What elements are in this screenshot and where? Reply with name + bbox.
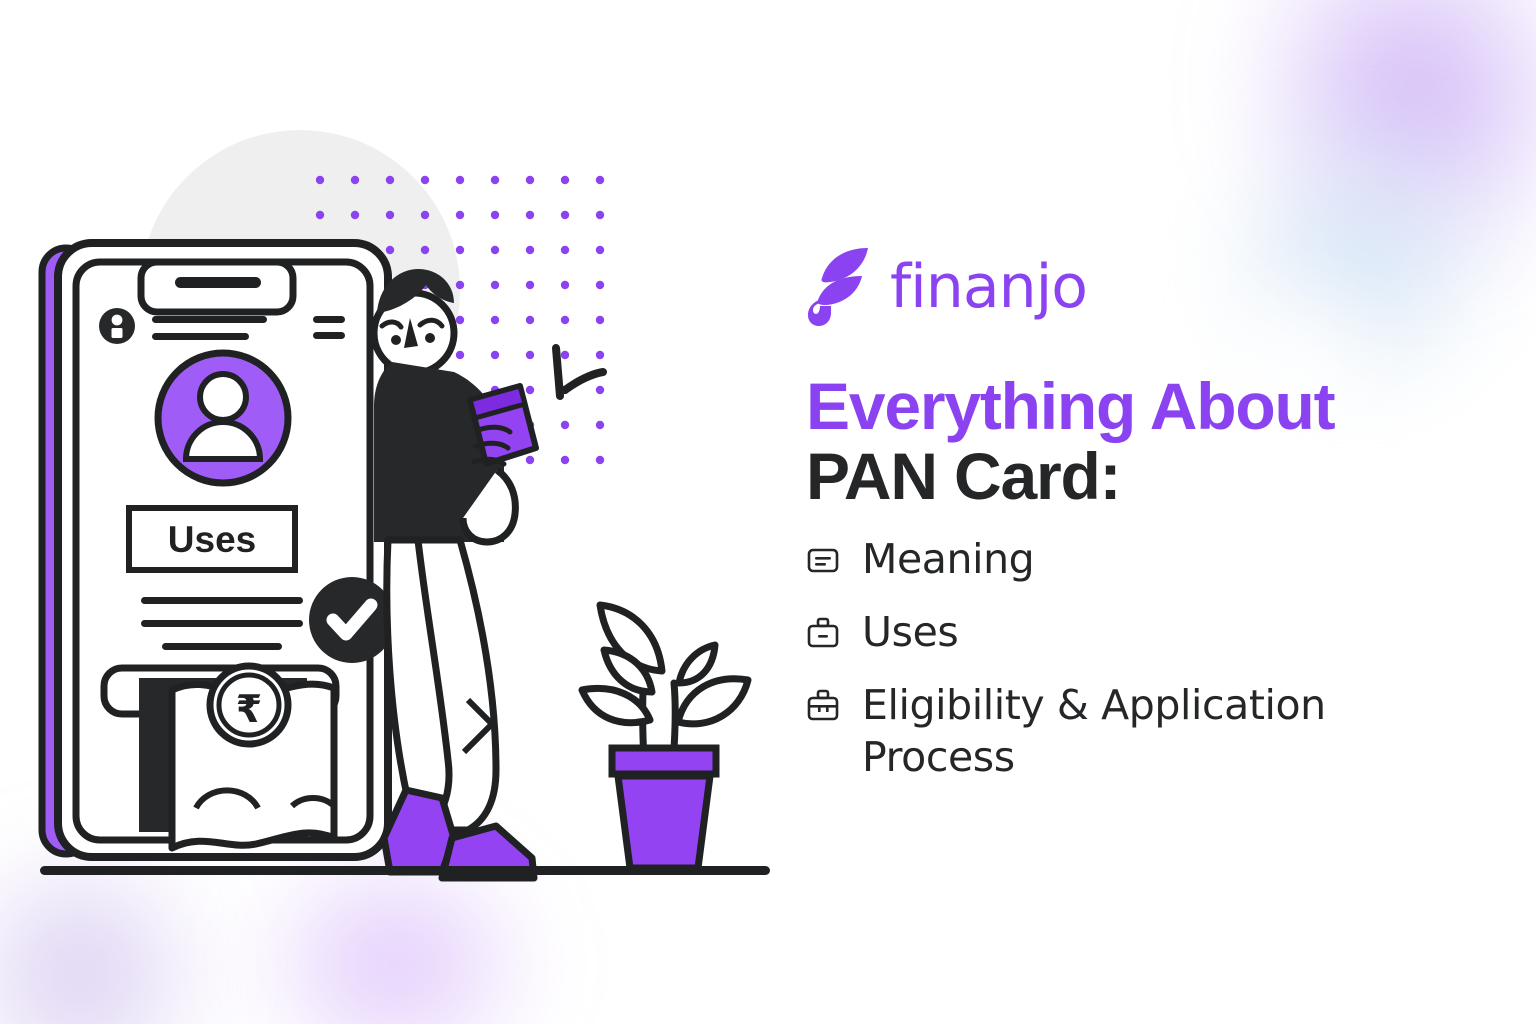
content-panel: finanjo Everything About PAN Card: Meani… (806, 248, 1466, 805)
hero-illustration: Uses (0, 0, 790, 900)
banknote-with-rupee: ₹ (172, 666, 334, 848)
headline-line-1: Everything About (806, 372, 1466, 442)
potted-plant-icon (582, 605, 748, 868)
check-circle-icon (309, 577, 395, 663)
list-item[interactable]: Uses (806, 607, 1466, 658)
uses-badge: Uses (129, 508, 295, 570)
finanjo-leaf-mark-icon (806, 248, 872, 326)
brand-wordmark: finanjo (890, 257, 1087, 317)
brand-logo[interactable]: finanjo (806, 248, 1466, 326)
user-avatar-icon (158, 353, 288, 483)
uses-badge-label: Uses (168, 519, 256, 560)
card-text-icon (806, 543, 840, 577)
list-item-label: Meaning (862, 534, 1034, 585)
toolbox-icon (806, 689, 840, 723)
ground-line (40, 866, 770, 875)
list-item[interactable]: Eligibility & Application Process (806, 680, 1466, 783)
poster-canvas: Uses (0, 0, 1536, 1024)
list-item-label: Uses (862, 607, 958, 658)
list-item-label: Eligibility & Application Process (862, 680, 1466, 783)
headline-line-2: PAN Card: (806, 442, 1466, 512)
page-title: Everything About PAN Card: (806, 372, 1466, 512)
user-badge-icon (99, 308, 135, 344)
topic-list: Meaning Uses (806, 534, 1466, 783)
rupee-coin-icon: ₹ (210, 666, 288, 744)
rupee-symbol: ₹ (236, 687, 262, 731)
briefcase-icon (806, 616, 840, 650)
list-item[interactable]: Meaning (806, 534, 1466, 585)
